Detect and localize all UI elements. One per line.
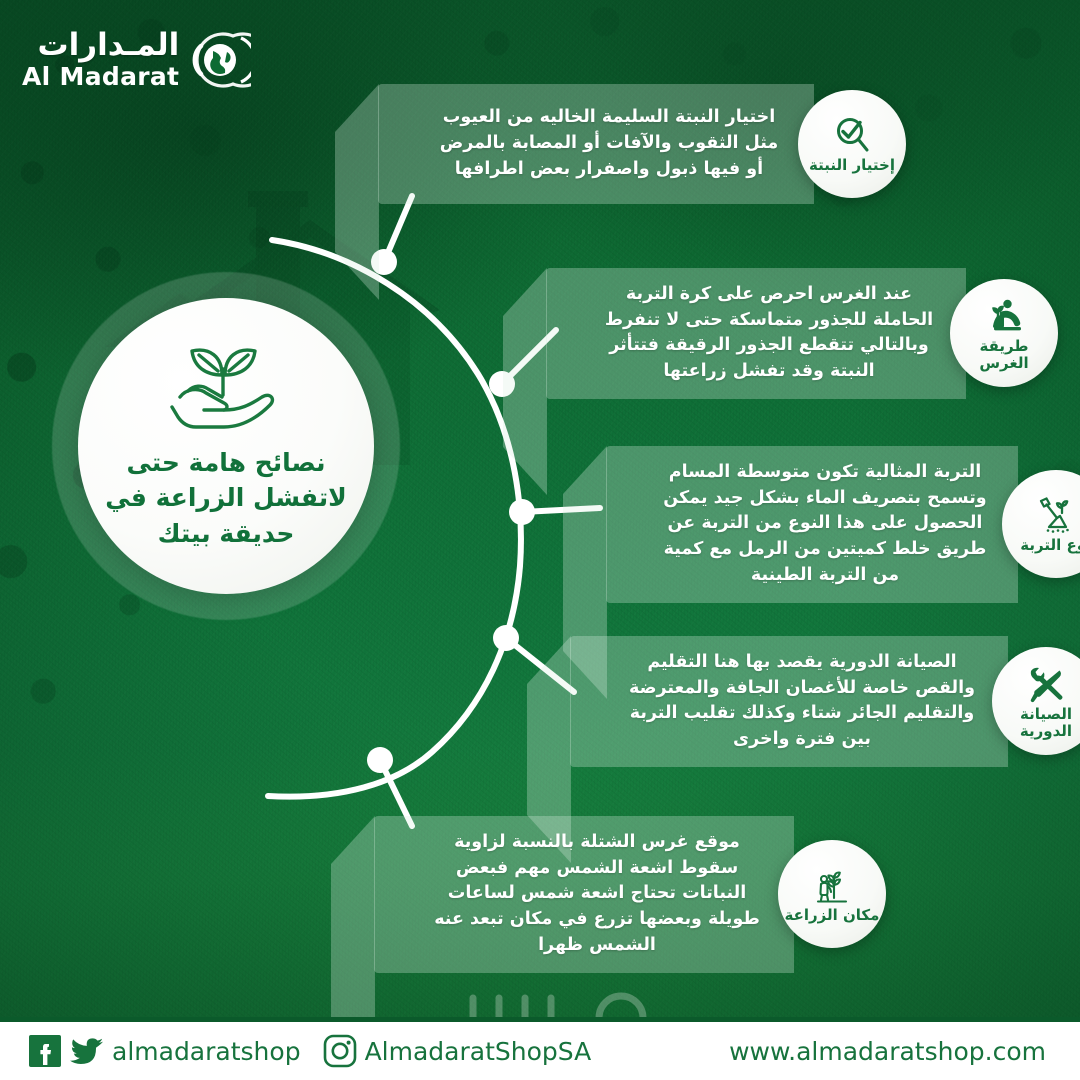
website-url[interactable]: www.almadaratshop.com [729,1037,1046,1066]
step-badge-planting-method[interactable]: طريقة الغرس [950,279,1058,387]
social-handle-text[interactable]: almadaratshop [112,1037,301,1066]
globe-logo-icon [189,32,251,88]
step-label-planting-method: طريقة الغرس [950,338,1058,373]
wrench-screwdriver-icon [1026,666,1066,704]
step-text-periodic-maintenance: الصيانة الدورية يقصد بها هنا التقليم وال… [626,650,978,753]
instagram-handle-text[interactable]: AlmadaratShopSA [365,1037,592,1066]
step-badge-plant-selection[interactable]: إختيار النبتة [798,90,906,198]
step-card-soil-type: التربة المثالية تكون متوسطة المسام وتسمح… [606,446,1018,603]
step-label-periodic-maintenance: الصيانة الدورية [992,706,1080,741]
step-label-plant-selection: إختيار النبتة [803,157,901,175]
brand-name-arabic: المـدارات [37,30,179,61]
footer-social-group: almadaratshop AlmadaratShopSA [0,1034,613,1068]
step-card-periodic-maintenance: الصيانة الدورية يقصد بها هنا التقليم وال… [570,636,1008,767]
step-label-soil-type: نوع التربة [1014,537,1080,555]
gardener-plants-icon [812,867,852,905]
step-text-planting-method: عند الغرس احرص على كرة التربة الحاملة لل… [602,282,936,385]
step-row-planting-method: طريقة الغرس عند الغرس احرص على كرة الترب… [546,268,1058,399]
footer-website-group: www.almadaratshop.com [729,1037,1080,1066]
main-title: نصائح هامة حتى لاتفشل الزراعة في حديقة ب… [104,445,348,552]
step-badge-periodic-maintenance[interactable]: الصيانة الدورية [992,647,1080,755]
step-text-planting-location: موقع غرس الشتلة بالنسبة لزاوية سقوط اشعة… [430,830,764,959]
step-badge-planting-location[interactable]: مكان الزراعة [778,840,886,948]
step-card-planting-method: عند الغرس احرص على كرة التربة الحاملة لل… [546,268,966,399]
step-row-plant-selection: إختيار النبتة اختيار النبتة السليمة الخا… [378,84,906,204]
hand-holding-sprout-icon [166,335,286,439]
step-text-soil-type: التربة المثالية تكون متوسطة المسام وتسمح… [662,460,988,589]
step-row-soil-type: نوع التربة التربة المثالية تكون متوسطة ا… [606,446,1080,603]
step-row-planting-location: مكان الزراعة موقع غرس الشتلة بالنسبة لزا… [374,816,886,973]
footer-bar: almadaratshop AlmadaratShopSA www.almada… [0,1022,1080,1080]
person-planting-icon [984,298,1024,336]
step-row-periodic-maintenance: الصيانة الدورية الصيانة الدورية يقصد بها… [570,636,1080,767]
infographic-canvas: المـدارات Al Madarat نصا [0,0,1080,1080]
brand-logo[interactable]: المـدارات Al Madarat [22,30,251,89]
brand-name-english: Al Madarat [22,64,179,89]
step-label-planting-location: مكان الزراعة [779,907,886,925]
step-card-planting-location: موقع غرس الشتلة بالنسبة لزاوية سقوط اشعة… [374,816,794,973]
instagram-icon[interactable] [323,1034,357,1068]
magnifier-check-icon [832,117,872,155]
twitter-bird-icon[interactable] [70,1034,104,1068]
step-text-plant-selection: اختيار النبتة السليمة الخاليه من العيوب … [434,105,784,182]
step-card-plant-selection: اختيار النبتة السليمة الخاليه من العيوب … [378,84,814,204]
brand-logo-text: المـدارات Al Madarat [22,30,179,89]
shovel-soil-sprout-icon [1036,497,1076,535]
center-hub: نصائح هامة حتى لاتفشل الزراعة في حديقة ب… [78,298,374,594]
facebook-icon[interactable] [28,1034,62,1068]
